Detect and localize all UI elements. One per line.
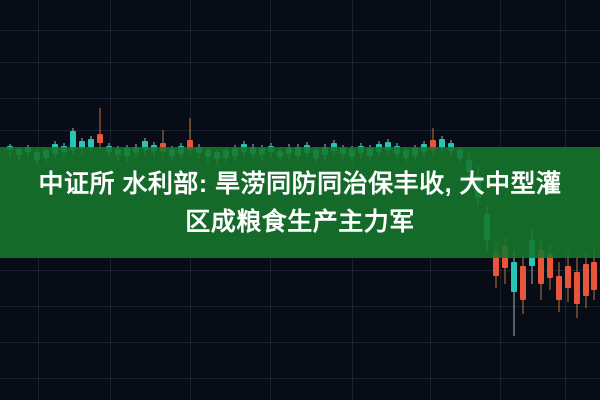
thumbnail-banner: 中证所 水利部: 旱涝同防同治保丰收, 大中型灌 区成粮食生产主力军 bbox=[0, 0, 600, 400]
candle-body bbox=[574, 272, 580, 304]
headline-line-2: 区成粮食生产主力军 bbox=[185, 203, 415, 241]
headline-line-1: 中证所 水利部: 旱涝同防同治保丰收, 大中型灌 bbox=[38, 165, 561, 203]
candle-body bbox=[511, 262, 517, 292]
candle-body bbox=[591, 262, 597, 290]
candle-body bbox=[520, 266, 526, 300]
headline-overlay-band: 中证所 水利部: 旱涝同防同治保丰收, 大中型灌 区成粮食生产主力军 bbox=[0, 147, 600, 258]
candle-body bbox=[97, 134, 103, 143]
candle-body bbox=[583, 264, 589, 296]
candle-wick bbox=[100, 108, 101, 150]
candle-body bbox=[556, 276, 562, 300]
candle-body bbox=[565, 266, 571, 288]
